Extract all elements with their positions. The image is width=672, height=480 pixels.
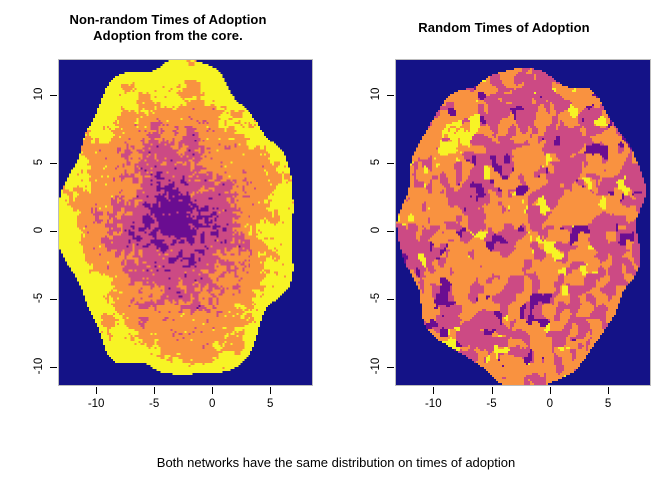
y-axis-tick-mark <box>50 367 57 368</box>
x-axis-tick-mark <box>96 387 97 394</box>
y-axis-tick-label: 5 <box>33 149 45 175</box>
x-axis-tick-label: 0 <box>192 398 232 410</box>
plot-panel-non-random: Non-random Times of Adoption Adoption fr… <box>0 0 336 440</box>
x-axis-tick-mark <box>608 387 609 394</box>
y-axis-tick-label: -10 <box>370 353 382 379</box>
x-axis-tick-label: -10 <box>76 398 116 410</box>
y-axis-tick-label: 10 <box>370 81 382 107</box>
plot-panel-random: Random Times of Adoption-10-5051050-5-10 <box>336 0 672 440</box>
y-axis-tick-mark <box>387 367 394 368</box>
diffusion-map-random <box>396 60 650 385</box>
diffusion-map-non-random <box>59 60 312 385</box>
y-axis-tick-label: 5 <box>370 149 382 175</box>
x-axis-tick-mark <box>212 387 213 394</box>
plot-area-random[interactable] <box>395 59 651 386</box>
y-axis-tick-label: -5 <box>33 285 45 311</box>
plot-area-non-random[interactable] <box>58 59 313 386</box>
y-axis-tick-mark <box>387 163 394 164</box>
x-axis-tick-mark <box>492 387 493 394</box>
x-axis-tick-mark <box>550 387 551 394</box>
panel-title-random: Random Times of Adoption <box>336 20 672 36</box>
y-axis-tick-label: -10 <box>33 353 45 379</box>
x-axis-tick-label: 0 <box>530 398 570 410</box>
x-axis-tick-label: -10 <box>413 398 453 410</box>
x-axis-tick-label: 5 <box>588 398 628 410</box>
y-axis-tick-label: 0 <box>370 217 382 243</box>
x-axis-tick-label: 5 <box>250 398 290 410</box>
y-axis-tick-mark <box>50 95 57 96</box>
y-axis-tick-mark <box>50 231 57 232</box>
y-axis-tick-label: -5 <box>370 285 382 311</box>
y-axis-tick-mark <box>50 163 57 164</box>
y-axis-tick-label: 10 <box>33 81 45 107</box>
y-axis-tick-mark <box>50 299 57 300</box>
x-axis-tick-label: -5 <box>472 398 512 410</box>
panel-title-non-random: Non-random Times of Adoption Adoption fr… <box>0 12 336 44</box>
x-axis-tick-mark <box>270 387 271 394</box>
y-axis-tick-mark <box>387 299 394 300</box>
y-axis-tick-mark <box>387 95 394 96</box>
figure-canvas: Non-random Times of Adoption Adoption fr… <box>0 0 672 480</box>
figure-caption: Both networks have the same distribution… <box>0 455 672 470</box>
y-axis-tick-label: 0 <box>33 217 45 243</box>
y-axis-tick-mark <box>387 231 394 232</box>
x-axis-tick-label: -5 <box>134 398 174 410</box>
x-axis-tick-mark <box>154 387 155 394</box>
x-axis-tick-mark <box>433 387 434 394</box>
